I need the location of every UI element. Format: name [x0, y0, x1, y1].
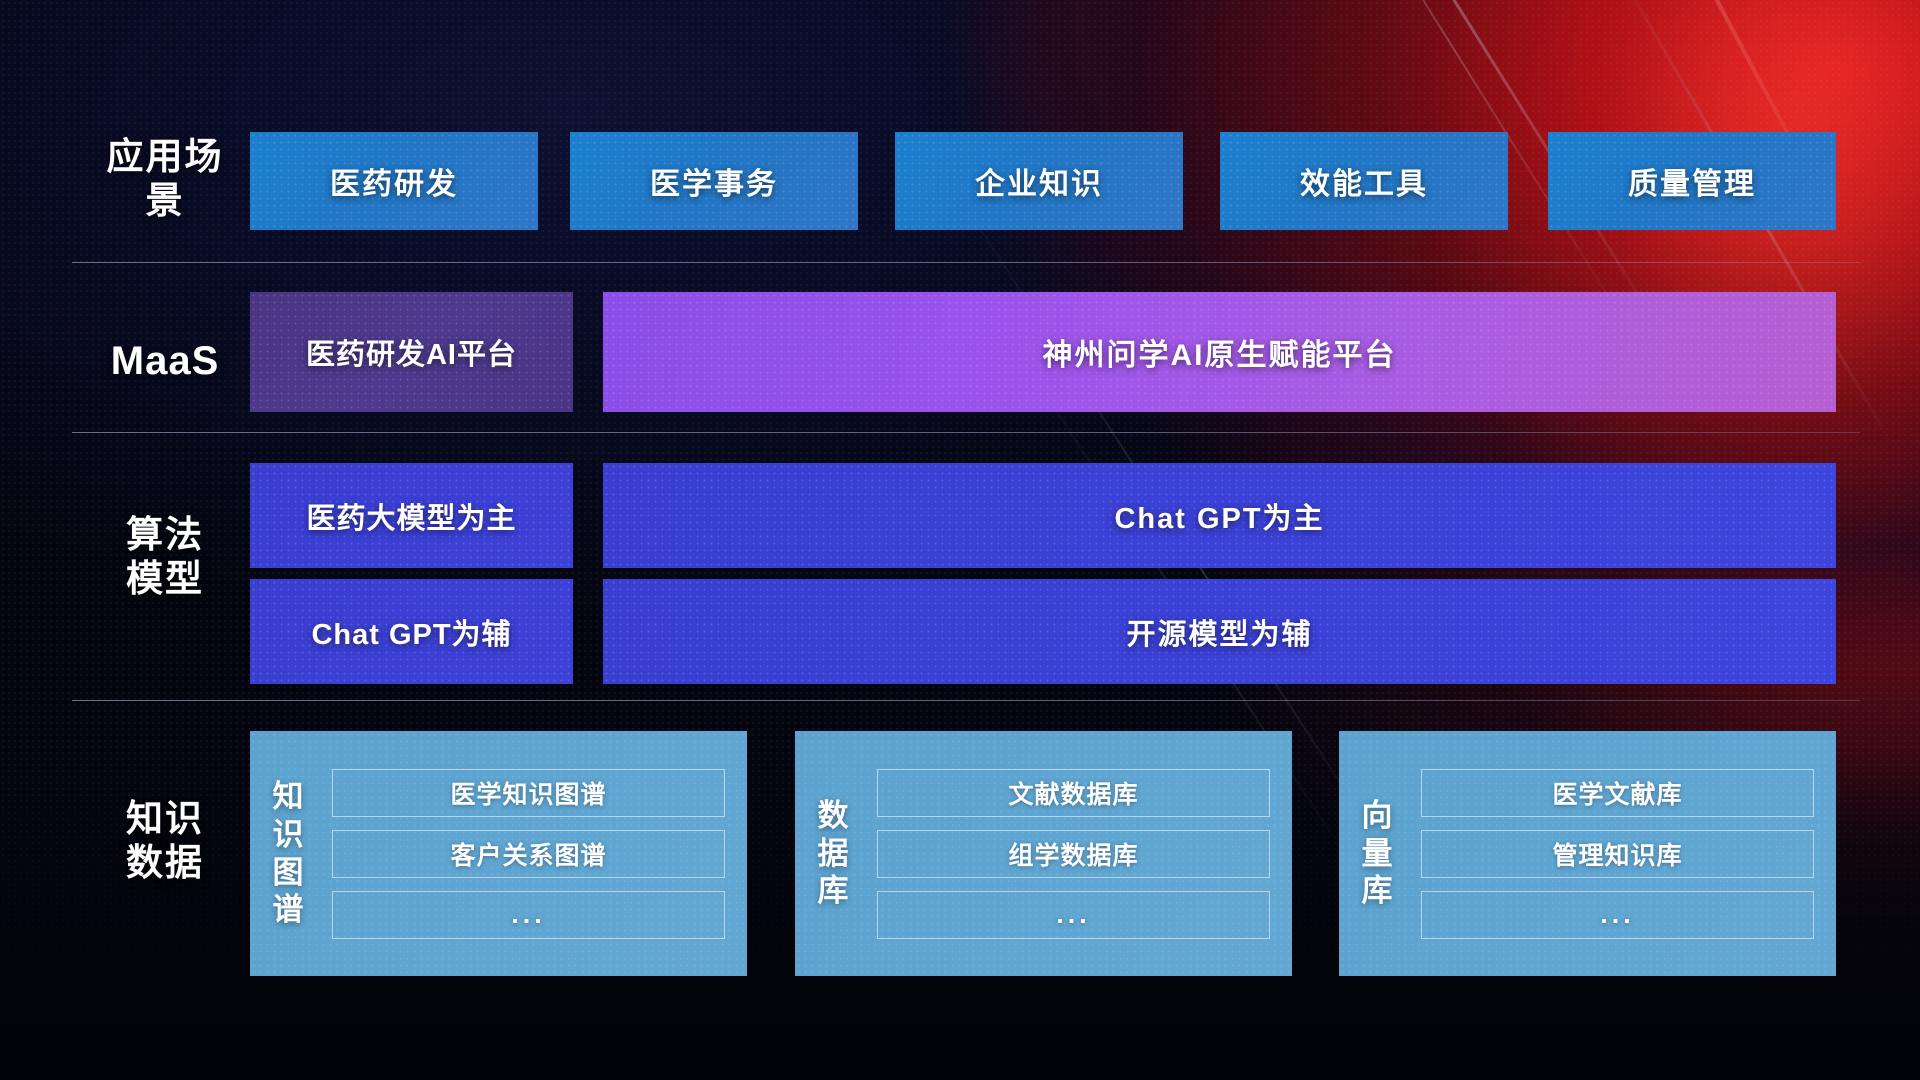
- algorithm-card-chatgpt-secondary[interactable]: Chat GPT为辅: [250, 579, 573, 684]
- knowledge-item-omics-db[interactable]: 组学数据库: [877, 830, 1270, 878]
- knowledge-item-label: ...: [511, 899, 546, 930]
- divider-algorithm-knowledge: [72, 700, 1860, 701]
- knowledge-item-label: 文献数据库: [1008, 775, 1138, 811]
- row-label-application: 应用场景: [90, 135, 240, 222]
- knowledge-item-label: 管理知识库: [1552, 836, 1682, 872]
- knowledge-items-vector-store: 医学文献库 管理知识库 ...: [1415, 731, 1836, 976]
- knowledge-item-literature-db[interactable]: 文献数据库: [877, 769, 1270, 817]
- knowledge-item-customer-relation-kg[interactable]: 客户关系图谱: [332, 830, 725, 878]
- knowledge-item-label: 客户关系图谱: [450, 836, 606, 872]
- knowledge-item-more-kg[interactable]: ...: [332, 891, 725, 939]
- knowledge-panel-title-knowledge-graph: 知 识 图 谱: [250, 731, 326, 976]
- knowledge-item-label: 医学知识图谱: [450, 775, 606, 811]
- knowledge-panel-vector-store[interactable]: 向 量 库 医学文献库 管理知识库 ...: [1339, 731, 1836, 976]
- app-card-drug-rnd[interactable]: 医药研发: [250, 132, 538, 230]
- architecture-diagram: 应用场景 医药研发 医学事务 企业知识 效能工具 质量管理 MaaS: [0, 0, 1920, 1080]
- algorithm-card-chatgpt-primary[interactable]: Chat GPT为主: [603, 463, 1836, 568]
- knowledge-panel-database[interactable]: 数 据 库 文献数据库 组学数据库 ...: [795, 731, 1292, 976]
- app-card-quality-management[interactable]: 质量管理: [1548, 132, 1836, 230]
- app-card-label: 质量管理: [1628, 159, 1756, 203]
- knowledge-items-knowledge-graph: 医学知识图谱 客户关系图谱 ...: [326, 731, 747, 976]
- knowledge-item-more-db[interactable]: ...: [877, 891, 1270, 939]
- row-label-algorithm-line1: 算法: [90, 513, 240, 557]
- app-card-label: 效能工具: [1300, 159, 1428, 203]
- app-card-label: 医药研发: [330, 159, 458, 203]
- algorithm-card-label: Chat GPT为辅: [311, 611, 511, 653]
- knowledge-item-management-knowledge-store[interactable]: 管理知识库: [1421, 830, 1814, 878]
- row-label-knowledge-line1: 知识: [90, 797, 240, 841]
- row-label-maas: MaaS: [90, 338, 240, 385]
- app-card-label: 医学事务: [650, 159, 778, 203]
- app-card-label: 企业知识: [975, 159, 1103, 203]
- knowledge-item-label: ...: [1056, 899, 1091, 930]
- knowledge-item-more-vector[interactable]: ...: [1421, 891, 1814, 939]
- row-label-algorithm: 算法 模型: [90, 513, 240, 600]
- app-card-enterprise-knowledge[interactable]: 企业知识: [895, 132, 1183, 230]
- maas-card-drug-ai-platform[interactable]: 医药研发AI平台: [250, 292, 573, 412]
- app-card-medical-affairs[interactable]: 医学事务: [570, 132, 858, 230]
- knowledge-item-label: 医学文献库: [1552, 775, 1682, 811]
- maas-card-label: 医药研发AI平台: [306, 331, 517, 373]
- knowledge-item-label: ...: [1600, 899, 1635, 930]
- knowledge-item-medical-literature-store[interactable]: 医学文献库: [1421, 769, 1814, 817]
- knowledge-item-label: 组学数据库: [1008, 836, 1138, 872]
- app-card-efficiency-tools[interactable]: 效能工具: [1220, 132, 1508, 230]
- maas-card-label: 神州问学AI原生赋能平台: [1043, 330, 1397, 374]
- algorithm-card-opensource-secondary[interactable]: 开源模型为辅: [603, 579, 1836, 684]
- maas-card-shenzhou-platform[interactable]: 神州问学AI原生赋能平台: [603, 292, 1836, 412]
- algorithm-card-label: 医药大模型为主: [306, 495, 516, 537]
- row-label-knowledge-line2: 数据: [90, 841, 240, 885]
- row-label-algorithm-line2: 模型: [90, 557, 240, 601]
- knowledge-panel-knowledge-graph[interactable]: 知 识 图 谱 医学知识图谱 客户关系图谱 ...: [250, 731, 747, 976]
- divider-maas-algorithm: [72, 432, 1860, 433]
- divider-application-maas: [72, 262, 1860, 263]
- knowledge-panel-title-vector-store: 向 量 库: [1339, 731, 1415, 976]
- knowledge-items-database: 文献数据库 组学数据库 ...: [871, 731, 1292, 976]
- knowledge-item-medical-kg[interactable]: 医学知识图谱: [332, 769, 725, 817]
- row-label-knowledge: 知识 数据: [90, 797, 240, 884]
- algorithm-card-label: 开源模型为辅: [1126, 611, 1312, 653]
- algorithm-card-label: Chat GPT为主: [1114, 495, 1324, 537]
- algorithm-card-drug-llm-primary[interactable]: 医药大模型为主: [250, 463, 573, 568]
- knowledge-panel-title-database: 数 据 库: [795, 731, 871, 976]
